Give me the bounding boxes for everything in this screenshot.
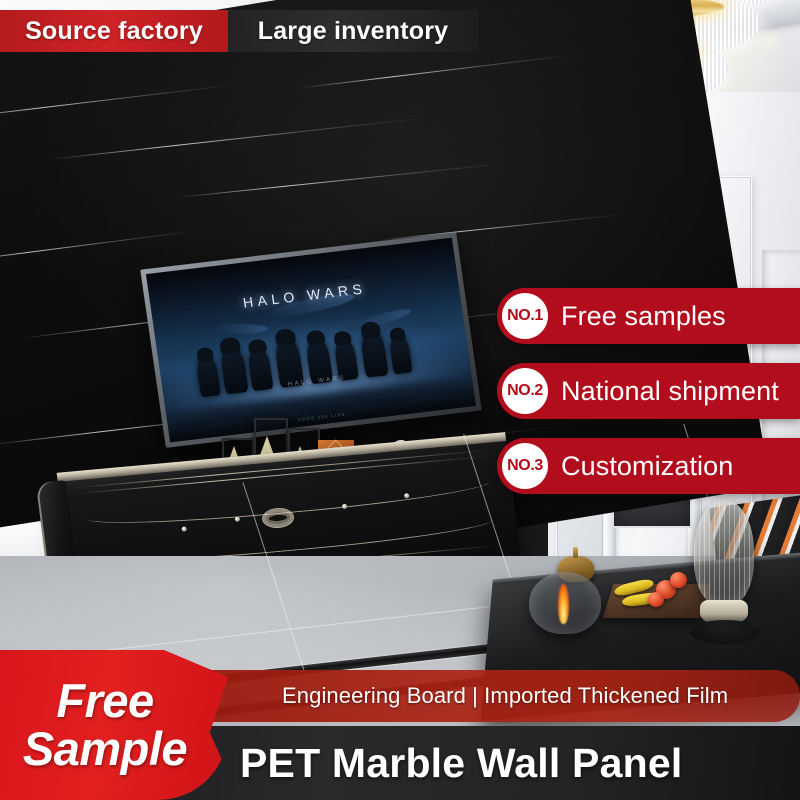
feature-badge-2: NO.2 National shipment (497, 363, 800, 419)
marble-vein (176, 163, 504, 198)
marble-vein (48, 117, 426, 160)
marble-vein (0, 84, 238, 121)
free-sample-callout: Free Sample (0, 650, 210, 800)
marble-vein (300, 54, 578, 89)
free-sample-line-2: Sample (23, 725, 187, 773)
product-banner: HALO WARS HALO WARS XBOX 360 LIVE (0, 0, 800, 800)
badge-number-2: NO.2 (502, 368, 548, 414)
apple-icon (670, 572, 687, 588)
product-subtitle-bar: Engineering Board | Imported Thickened F… (160, 670, 800, 722)
flame-icon (558, 584, 569, 624)
badge-number-3: NO.3 (502, 443, 548, 489)
vase-icon (694, 500, 754, 606)
badge-label-1: Free samples (561, 301, 726, 332)
tv-screen: HALO WARS HALO WARS XBOX 360 LIVE (146, 238, 476, 443)
product-title: PET Marble Wall Panel (240, 740, 682, 787)
apple-icon (648, 592, 664, 607)
feature-badge-3: NO.3 Customization (497, 438, 800, 494)
console-knob (181, 526, 187, 531)
product-subtitle: Engineering Board | Imported Thickened F… (282, 683, 728, 709)
feature-badge-list: NO.1 Free samples NO.2 National shipment… (497, 288, 800, 513)
ribbon-source-factory: Source factory (0, 10, 228, 52)
top-ribbon-group: Source factory Large inventory (0, 10, 478, 52)
badge-number-1: NO.1 (502, 293, 548, 339)
vase-foot (690, 620, 760, 644)
badge-label-3: Customization (561, 451, 733, 482)
badge-label-2: National shipment (561, 376, 779, 407)
console-knob (235, 516, 241, 521)
marble-vein (0, 230, 201, 264)
feature-badge-1: NO.1 Free samples (497, 288, 800, 344)
free-sample-line-1: Free (56, 677, 153, 725)
ribbon-large-inventory: Large inventory (228, 10, 478, 52)
bottom-banner: Engineering Board | Imported Thickened F… (0, 650, 800, 800)
tv-icon: HALO WARS HALO WARS XBOX 360 LIVE (140, 232, 482, 448)
console-knob (342, 504, 348, 509)
